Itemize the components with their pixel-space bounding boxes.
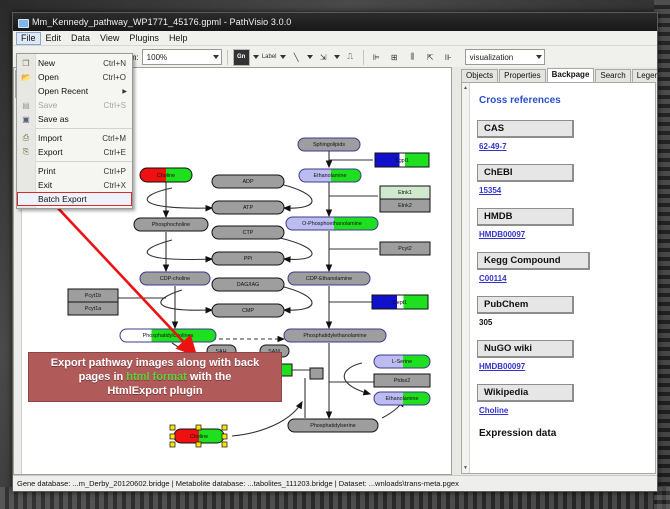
toolbar-separator-2 [363,50,364,65]
xref-value-pubchem: 305 [479,318,649,327]
callout-line2-pre: pages in [79,371,127,383]
align-center-icon[interactable]: ⊞ [387,50,402,65]
node-sgpl1[interactable]: Sgpl1 [375,153,429,167]
xref-value-wikipedia: Choline [479,406,649,415]
node-sphingolipids[interactable]: Sphingolipids [298,138,360,151]
svg-text:Choline: Choline [157,173,175,179]
backpage-content: ▲ ▼ Cross references CAS 62-49-7 ChEBI 1… [461,82,656,474]
xref-link-kegg[interactable]: C00114 [479,274,507,283]
svg-text:ADP: ADP [242,179,253,185]
status-text: Gene database: ...m_Derby_20120602.bridg… [13,479,459,488]
file-menu-popup[interactable]: ❐ New Ctrl+N 📂 Open Ctrl+O Open Recent ▶… [16,53,133,209]
node-ptdss2[interactable]: Ptdss2 [374,374,430,387]
node-etnk1[interactable]: Etnk1 [380,186,430,199]
xref-link-wikipedia[interactable]: Choline [479,406,508,415]
visualization-combo[interactable]: visualization [465,49,545,65]
svg-text:ATP: ATP [243,205,253,211]
menu-help[interactable]: Help [164,32,193,45]
svg-text:Choline: Choline [190,434,208,440]
xref-label-kegg: Kegg Compound [477,252,590,270]
menu-item-open-shortcut: Ctrl+O [103,73,132,82]
menu-item-export-shortcut: Ctrl+E [104,148,132,157]
xref-label-wikipedia: Wikipedia [477,384,574,402]
svg-text:Ethanolamine: Ethanolamine [386,396,419,402]
svg-text:Pcyt1b: Pcyt1b [85,293,101,299]
xref-label-nugo: NuGO wiki [477,340,574,358]
svg-text:Pcyt2: Pcyt2 [398,246,411,252]
node-pcyt1b[interactable]: Pcyt1b [68,289,118,302]
side-scrollbar[interactable]: ▲ ▼ [462,83,470,473]
zoom-combo[interactable]: 100% [142,49,222,65]
xref-link-hmdb[interactable]: HMDB00097 [479,230,525,239]
node-pcyt1a[interactable]: Pcyt1a [68,302,118,315]
menu-separator-1 [35,128,132,129]
node-cdp-choline[interactable]: CDP-choline [140,272,210,285]
stack-icon[interactable]: ⇱ [423,50,438,65]
pathvisio-icon [17,17,28,28]
xref-link-cas[interactable]: 62-49-7 [479,142,507,151]
menu-item-new-shortcut: Ctrl+N [103,59,132,68]
xref-label-hmdb: HMDB [477,208,574,226]
tab-objects[interactable]: Objects [461,69,498,82]
callout-text: Export pathway images along with back pa… [47,356,263,398]
menu-item-export-label: Export [35,147,104,157]
title-bar: Mm_Kennedy_pathway_WP1771_45176.gpml - P… [13,13,657,31]
xref-value-nugo: HMDB00097 [479,362,649,371]
pathvisio-window: Mm_Kennedy_pathway_WP1771_45176.gpml - P… [12,12,658,492]
line-icon[interactable]: ╲ [289,50,304,65]
svg-text:Phosphatidylserine: Phosphatidylserine [310,423,356,429]
svg-text:Cept1: Cept1 [393,300,407,306]
menu-item-save-shortcut: Ctrl+S [104,101,132,110]
export-icon: ⎘ [17,147,35,157]
toolbar-separator [227,50,228,65]
menu-item-batch-export-label: Batch Export [35,194,132,204]
menu-item-open-recent-label: Open Recent [35,86,122,96]
chevron-down-icon-2 [536,55,542,59]
node-dag-iag[interactable]: DAG/IAG [212,278,284,291]
node-phosphatidylethanolamine[interactable]: Phosphatidylethanolamine [284,329,386,342]
callout-line1: Export pathway images along with back [51,357,259,369]
node-choline-top[interactable]: Choline [140,168,192,182]
submenu-arrow-icon: ▶ [122,88,132,95]
svg-text:CMP: CMP [242,308,254,314]
gene-product-icon[interactable]: Gn [233,49,250,66]
visualization-value: visualization [470,53,514,62]
chevron-down-icon [213,55,219,59]
menu-item-open-recent[interactable]: Open Recent ▶ [17,84,132,98]
menu-file[interactable]: File [16,32,41,45]
xref-label-chebi: ChEBI [477,164,574,182]
screenshot-root: Mm_Kennedy_pathway_WP1771_45176.gpml - P… [0,0,670,509]
menu-separator-2 [35,161,132,162]
window-title: Mm_Kennedy_pathway_WP1771_45176.gpml - P… [32,17,291,27]
menu-item-open-label: Open [35,72,103,82]
svg-text:Etnk2: Etnk2 [398,203,412,209]
xref-link-nugo[interactable]: HMDB00097 [479,362,525,371]
line-dropdown-icon[interactable] [307,55,313,59]
menu-item-export[interactable]: ⎘ Export Ctrl+E [17,145,132,159]
node-phosphocholine[interactable]: Phosphocholine [134,218,208,231]
node-ctp[interactable]: CTP [212,226,284,239]
callout-line2-highlight: html format [126,371,187,383]
node-ppi[interactable]: PPi [212,252,284,265]
svg-text:CTP: CTP [243,230,254,236]
svg-text:CDP-Ethanolamine: CDP-Ethanolamine [306,276,352,282]
menu-bar: File Edit Data View Plugins Help [13,31,657,46]
scroll-down-icon[interactable]: ▼ [463,465,468,471]
annotation-callout: Export pathway images along with back pa… [28,352,282,402]
node-phosphatidylserine[interactable]: Phosphatidylserine [288,419,378,432]
svg-text:Etnk1: Etnk1 [398,190,412,196]
menu-item-import-label: Import [35,133,102,143]
menu-item-save-as-label: Save as [35,114,126,124]
label-icon[interactable]: Label [262,50,277,65]
menu-item-new[interactable]: ❐ New Ctrl+N [17,56,132,70]
interaction-dropdown-icon[interactable] [334,55,340,59]
menu-item-save: ▤ Save Ctrl+S [17,98,132,112]
menu-item-exit-shortcut: Ctrl+X [104,181,132,190]
scroll-up-icon[interactable]: ▲ [463,85,468,91]
menu-item-print-shortcut: Ctrl+P [104,167,132,176]
node-pcyt2[interactable]: Pcyt2 [380,242,430,255]
menu-item-batch-export[interactable]: Batch Export [17,192,132,206]
cross-references-title: Cross references [479,95,649,106]
status-bar: Gene database: ...m_Derby_20120602.bridg… [13,475,657,491]
menu-item-exit[interactable]: Exit Ctrl+X [17,178,132,192]
svg-text:Ethanolamine: Ethanolamine [314,173,347,179]
menu-data[interactable]: Data [66,32,95,45]
svg-text:Phosphatidylethanolamine: Phosphatidylethanolamine [303,333,366,339]
node-ethanolamine-top[interactable]: Ethanolamine [299,169,361,182]
xref-value-chebi: 15354 [479,186,649,195]
xref-value-cas: 62-49-7 [479,142,649,151]
menu-item-print-label: Print [35,166,104,176]
node-l-serine[interactable]: L-Serine [374,355,430,368]
svg-text:Sphingolipids: Sphingolipids [313,142,345,148]
open-folder-icon: 📂 [17,73,35,82]
node-o-phosphoethanolamine[interactable]: O-Phosphoethanolamine [286,217,378,230]
zoom-value: 100% [147,53,167,62]
callout-line3: HtmlExport plugin [107,385,202,397]
menu-view[interactable]: View [95,32,124,45]
tab-legend[interactable]: Legend [632,69,658,82]
svg-text:Phosphocholine: Phosphocholine [152,222,190,228]
svg-text:L-Serine: L-Serine [392,359,412,365]
menu-item-import-shortcut: Ctrl+M [102,134,132,143]
tab-search[interactable]: Search [595,69,630,82]
side-panel-tabs: Objects Properties Backpage Search Legen… [452,67,657,82]
label-dropdown-icon[interactable] [280,55,286,59]
menu-item-save-as[interactable]: ▣ Save as [17,112,132,126]
svg-text:Ptdss2: Ptdss2 [394,378,410,384]
menu-item-new-label: New [35,58,103,68]
import-icon: ⎙ [17,133,35,143]
node-adp[interactable]: ATP [212,201,284,214]
side-panel: Objects Properties Backpage Search Legen… [452,67,657,475]
xref-link-chebi[interactable]: 15354 [479,186,501,195]
align-left-icon[interactable]: ⊫ [369,50,384,65]
svg-text:Phosphatidylcholines: Phosphatidylcholines [143,333,194,339]
svg-text:O-Phosphoethanolamine: O-Phosphoethanolamine [302,221,362,227]
distribute-icon[interactable]: ⫼ [405,50,420,65]
menu-item-exit-label: Exit [35,180,104,190]
xref-label-cas: CAS [477,120,574,138]
menu-item-print[interactable]: Print Ctrl+P [17,164,132,178]
xref-value-hmdb: HMDB00097 [479,230,649,239]
menu-plugins[interactable]: Plugins [124,32,164,45]
anchor-icon[interactable]: ⎍ [343,50,358,65]
xref-label-pubchem: PubChem [477,296,574,314]
callout-line2-post: with the [187,371,232,383]
node-choline-selected[interactable]: Choline [170,425,227,447]
node-cdp-ethanolamine[interactable]: CDP-Ethanolamine [288,272,370,285]
save-disk-icon: ▤ [17,101,35,110]
new-file-icon: ❐ [17,59,35,68]
expression-data-title: Expression data [479,428,649,439]
node-anchor-box[interactable] [310,368,323,379]
svg-text:Sgpl1: Sgpl1 [395,158,409,164]
node-phosphatidylcholines[interactable]: Phosphatidylcholines [120,329,216,342]
node-ethanolamine-bottom[interactable]: Ethanolamine [374,392,430,405]
node-atp[interactable]: ADP [212,175,284,188]
menu-edit[interactable]: Edit [41,32,67,45]
tab-properties[interactable]: Properties [499,69,545,82]
xref-value-kegg: C00114 [479,274,649,283]
node-cept1[interactable]: Cept1 [372,295,428,309]
svg-text:DAG/IAG: DAG/IAG [237,282,259,288]
svg-text:Pcyt1a: Pcyt1a [85,306,101,312]
node-cmp[interactable]: CMP [212,304,284,317]
menu-item-import[interactable]: ⎙ Import Ctrl+M [17,131,132,145]
interaction-icon[interactable]: ⇲ [316,50,331,65]
svg-text:CDP-choline: CDP-choline [160,276,190,282]
menu-item-open[interactable]: 📂 Open Ctrl+O [17,70,132,84]
node-etnk2[interactable]: Etnk2 [380,199,430,212]
gene-dropdown-icon[interactable] [253,55,259,59]
save-as-icon: ▣ [17,115,35,124]
svg-text:PPi: PPi [244,256,252,262]
menu-item-save-label: Save [35,100,104,110]
tab-backpage[interactable]: Backpage [547,68,595,82]
order-icon[interactable]: ⊪ [441,50,456,65]
